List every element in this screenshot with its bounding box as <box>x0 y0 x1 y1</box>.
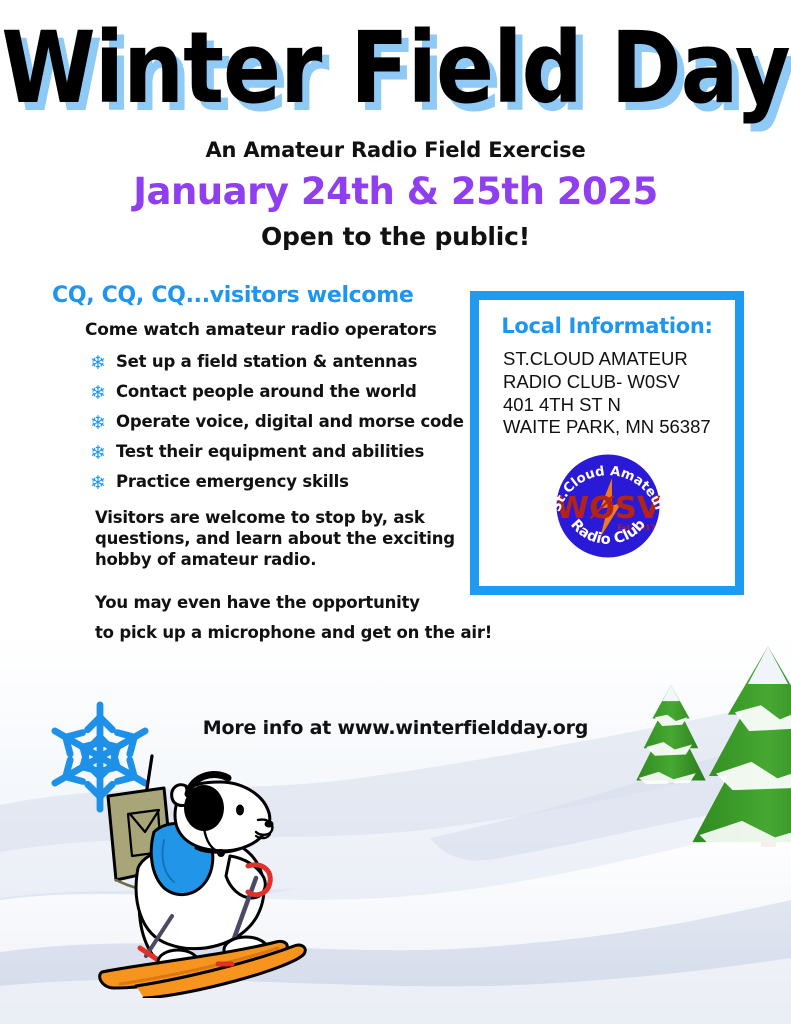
left-content-column: CQ, CQ, CQ...visitors welcome Come watch… <box>52 283 472 644</box>
list-item-label: Set up a field station & antennas <box>116 353 417 371</box>
list-item-label: Contact people around the world <box>116 383 417 401</box>
public-notice: Open to the public! <box>0 222 791 251</box>
list-item: ❄ Practice emergency skills <box>90 473 472 493</box>
list-item-label: Test their equipment and abilities <box>116 443 424 461</box>
intro-line: Come watch amateur radio operators <box>85 320 472 340</box>
subtitle-block: An Amateur Radio Field Exercise January … <box>0 138 791 251</box>
list-item-label: Practice emergency skills <box>116 473 349 491</box>
snowflake-icon: ❄ <box>90 414 116 433</box>
snowflake-icon: ❄ <box>90 384 116 403</box>
list-item: ❄ Test their equipment and abilities <box>90 443 472 463</box>
skiing-polar-bear-illustration <box>80 748 352 998</box>
activity-bullet-list: ❄ Set up a field station & antennas ❄ Co… <box>52 353 472 493</box>
title-container: Winter Field Day <box>0 18 791 102</box>
winter-field-day-poster: Winter Field Day An Amateur Radio Field … <box>0 0 791 1024</box>
snowflake-icon: ❄ <box>90 474 116 493</box>
list-item: ❄ Operate voice, digital and morse code <box>90 413 472 433</box>
list-item: ❄ Set up a field station & antennas <box>90 353 472 373</box>
club-address: ST.CLOUD AMATEUR RADIO CLUB- W0SV 401 4T… <box>503 348 735 439</box>
local-information-title: Local Information: <box>479 314 735 338</box>
snowflake-icon: ❄ <box>90 354 116 373</box>
page-title: Winter Field Day <box>1 18 789 117</box>
list-item-label: Operate voice, digital and morse code <box>116 413 464 431</box>
website-info[interactable]: More info at www.winterfieldday.org <box>0 717 791 739</box>
local-information-box: Local Information: ST.CLOUD AMATEUR RADI… <box>470 291 744 595</box>
list-item: ❄ Contact people around the world <box>90 383 472 403</box>
club-logo: WØSV Est. 1917 St.Cloud Amateur Radio Cl… <box>542 440 674 572</box>
snowflake-icon: ❄ <box>90 444 116 463</box>
event-dates: January 24th & 25th 2025 <box>0 170 791 213</box>
event-description: An Amateur Radio Field Exercise <box>0 138 791 162</box>
opportunity-line-2: to pick up a microphone and get on the a… <box>95 622 515 643</box>
cq-heading: CQ, CQ, CQ...visitors welcome <box>52 283 472 308</box>
opportunity-line-1: You may even have the opportunity <box>95 592 495 613</box>
visitors-paragraph: Visitors are welcome to stop by, ask que… <box>95 507 470 570</box>
